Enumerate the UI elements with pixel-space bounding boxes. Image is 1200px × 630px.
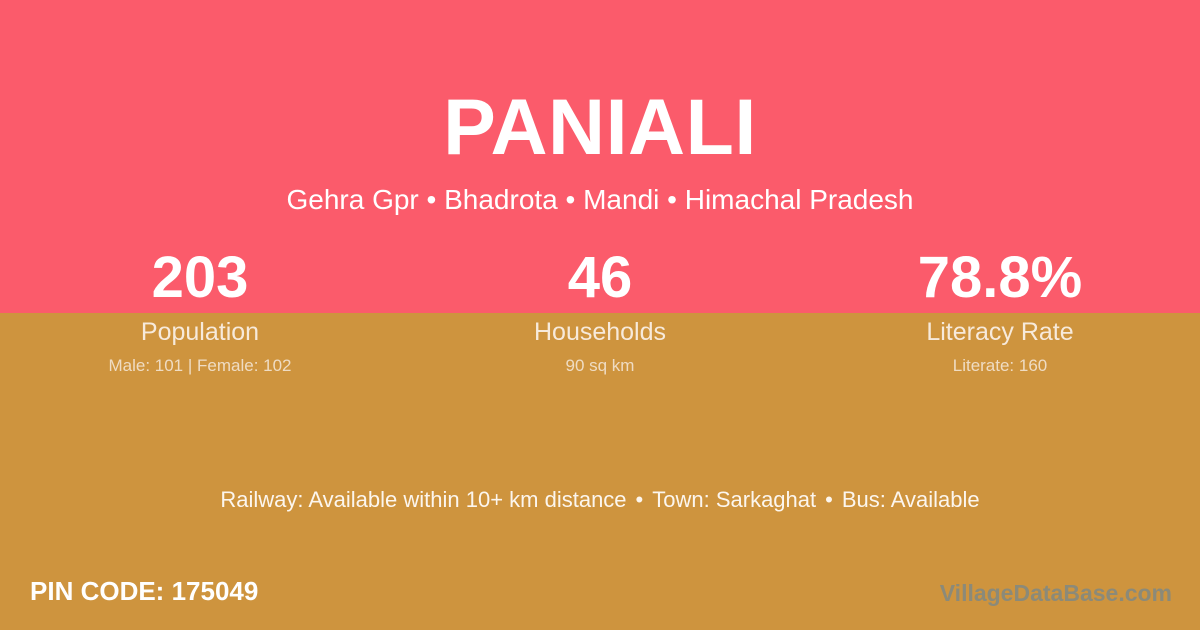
- stat-households: 46 Households 90 sq km: [400, 244, 800, 377]
- info-railway: Railway: Available within 10+ km distanc…: [220, 487, 626, 512]
- card-content: PANIALI Gehra Gpr • Bhadrota • Mandi • H…: [0, 0, 1200, 630]
- amenities-info-line: Railway: Available within 10+ km distanc…: [0, 485, 1200, 515]
- stat-value-households: 46: [400, 244, 800, 312]
- info-separator-2: •: [816, 487, 842, 512]
- pin-code-label: PIN CODE: 175049: [30, 575, 258, 607]
- info-separator-1: •: [627, 487, 653, 512]
- stat-sub-households: 90 sq km: [400, 355, 800, 377]
- stat-label-population: Population: [0, 316, 400, 348]
- stat-value-population: 203: [0, 244, 400, 312]
- stat-population: 203 Population Male: 101 | Female: 102: [0, 244, 400, 377]
- village-info-card: PANIALI Gehra Gpr • Bhadrota • Mandi • H…: [0, 0, 1200, 630]
- stat-sub-population: Male: 101 | Female: 102: [0, 355, 400, 377]
- stat-label-literacy-rate: Literacy Rate: [800, 316, 1200, 348]
- info-bus: Bus: Available: [842, 487, 980, 512]
- stat-value-literacy-rate: 78.8%: [800, 244, 1200, 312]
- info-town: Town: Sarkaghat: [652, 487, 816, 512]
- stat-label-households: Households: [400, 316, 800, 348]
- site-branding: VillageDataBase.com: [940, 578, 1172, 608]
- stat-literacy-rate: 78.8% Literacy Rate Literate: 160: [800, 244, 1200, 377]
- page-title: PANIALI: [0, 82, 1200, 172]
- breadcrumb: Gehra Gpr • Bhadrota • Mandi • Himachal …: [0, 182, 1200, 218]
- stats-row: 203 Population Male: 101 | Female: 102 4…: [0, 244, 1200, 377]
- stat-sub-literacy-rate: Literate: 160: [800, 355, 1200, 377]
